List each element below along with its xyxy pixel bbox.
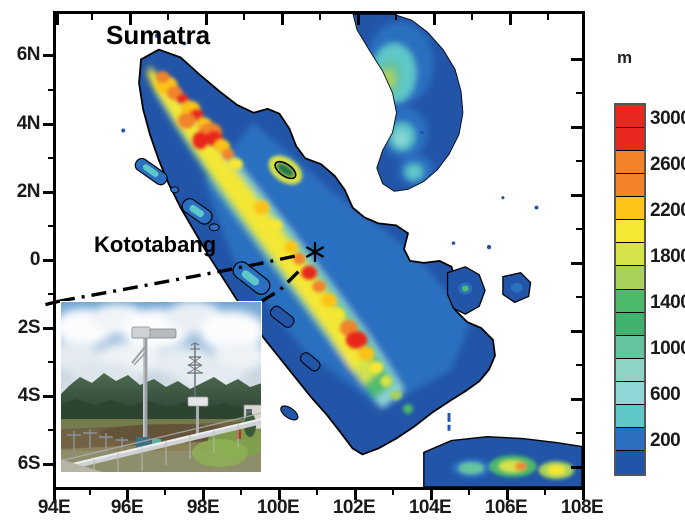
colorbar-band-1800 [616,266,644,289]
colorbar-band-1400 [616,313,644,336]
colorbar-label-2600: 2600 [650,154,685,176]
colorbar-band-400 [616,428,644,451]
tick-right-2n [571,194,582,197]
tick-y-2n [43,191,54,194]
tick-top-105e [471,14,473,20]
xtick-label-96e: 96E [92,497,162,519]
tick-y-0 [43,259,54,262]
tick-right-1n [576,228,582,230]
tick-y-6s [43,463,54,466]
tick-y-6n [43,54,54,57]
tick-right-5s [576,432,582,434]
colorbar-label-1400: 1400 [650,292,685,314]
region-label-sumatra: Sumatra [106,20,210,51]
tick-x-107e [544,489,546,495]
xtick-label-104e: 104E [395,497,465,519]
colorbar-label-1800: 1800 [650,246,685,268]
tick-right-1s [576,296,582,298]
colorbar-band-2600 [616,174,644,197]
tick-x-101e [316,489,318,495]
xtick-label-100e: 100E [243,497,313,519]
tick-x-103e [392,489,394,495]
tick-y-1s [48,293,54,295]
ytick-label-2n: 2N [0,181,40,203]
colorbar-band-1200 [616,336,644,359]
xtick-label-102e: 102E [319,497,389,519]
tick-top-103e [395,14,397,20]
tick-x-105e [468,489,470,495]
ytick-label-4s: 4S [0,385,40,407]
tick-top-99e [243,14,245,20]
tick-y-5s [48,429,54,431]
colorbar-band-200 [616,451,644,474]
colorbar-band-2800 [616,151,644,174]
tick-right-6s [571,466,582,469]
colorbar-band-600 [616,405,644,428]
tick-right-4n [571,126,582,129]
xtick-label-106e: 106E [471,497,541,519]
ytick-label-6n: 6N [0,44,40,66]
colorbar-band-1000 [616,359,644,382]
colorbar-unit-label: m [617,48,632,68]
tick-top-104e [433,14,436,25]
ytick-label-2s: 2S [0,317,40,339]
colorbar-band-2000 [616,243,644,266]
tick-x-99e [240,489,242,495]
tick-right-5n [576,92,582,94]
tick-y-4s [43,395,54,398]
tick-y-4n [43,123,54,126]
site-label-kototabang: Kototabang [94,232,216,258]
tick-top-100e [281,14,284,25]
colorbar-label-200: 200 [650,430,680,452]
tick-top-107e [547,14,549,20]
tick-right-3n [576,160,582,162]
colorbar-label-600: 600 [650,384,680,406]
colorbar-label-3000: 3000 [650,108,685,130]
colorbar-band-3000+ [616,105,644,128]
colorbar-band-2400 [616,197,644,220]
colorbar-band-2200 [616,220,644,243]
colorbar-band-800 [616,382,644,405]
tick-right-3s [576,364,582,366]
tick-y-2s [43,327,54,330]
tick-top-102e [357,14,360,25]
tick-right-6n [571,58,582,61]
tick-x-97e [164,489,166,495]
xtick-label-108e: 108E [547,497,617,519]
tick-y-3n [48,157,54,159]
colorbar-label-2200: 2200 [650,200,685,222]
tick-top-106e [509,14,512,25]
tick-top-108e [582,14,585,25]
ytick-label-6s: 6S [0,453,40,475]
tick-y-3s [48,361,54,363]
elevation-colorbar [614,103,646,476]
tick-top-95e [91,14,93,20]
colorbar-band-1600 [616,290,644,313]
colorbar-label-1000: 1000 [650,338,685,360]
ytick-label-4n: 4N [0,113,40,135]
tick-x-95e [89,489,91,495]
asterisk-marker [303,240,327,264]
tick-right-0 [571,262,582,265]
tick-right-4s [571,398,582,401]
kototabang-station-photo [60,301,262,473]
figure-root: 94E 96E 98E 100E 102E 104E 106E 108E 6N … [0,0,685,530]
tick-right-2s [571,330,582,333]
tick-top-101e [319,14,321,20]
station-photo-content [60,301,262,473]
tick-y-1n [48,225,54,227]
xtick-label-94e: 94E [19,497,89,519]
tick-y-5n [48,89,54,91]
colorbar-band-3000 [616,128,644,151]
ytick-label-0: 0 [0,249,40,271]
xtick-label-98e: 98E [168,497,238,519]
tick-top-94e [56,14,59,25]
